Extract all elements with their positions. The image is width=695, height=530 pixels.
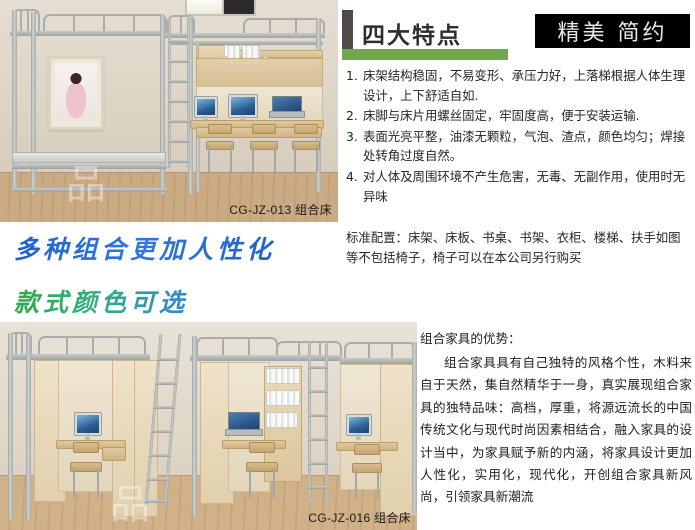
wall-poster (48, 56, 104, 130)
standard-configuration-text: 标准配置：床架、床板、书桌、书架、衣柜、楼梯、扶手如图等不包括椅子，椅子可以在本… (346, 228, 692, 268)
quality-badge: 精美 简约 (535, 14, 690, 48)
product-image-bottom: 品 CG-JZ-016 组合床 (0, 322, 417, 530)
features-header: 四大特点 (342, 10, 462, 50)
post-b4 (412, 342, 417, 514)
post-b2 (26, 335, 31, 521)
feature-item-4: 4. 对人体及周围环境不产生危害，无毒、无副作用，使用时无异味 (346, 167, 690, 206)
feature-text-3: 表面光亮平整，油漆无颗粒，气泡、渣点，颜色均匀；焊接处转角过度自然。 (363, 127, 690, 166)
feature-number-1: 1. (346, 66, 363, 105)
chair-3 (292, 124, 320, 172)
laptop-1 (272, 96, 302, 118)
overhead-shelf-board-2 (196, 58, 323, 88)
header-tick-mark (342, 10, 353, 50)
chair-b3 (352, 444, 382, 498)
header-green-bar (342, 49, 508, 60)
chair-b1 (70, 442, 102, 498)
feature-number-4: 4. (346, 167, 363, 206)
features-list: 1. 床架结构稳固，不易变形、承压力好，上落梯根据人体生理设计，上下舒适自如. … (346, 66, 690, 207)
post-b3 (192, 336, 197, 516)
bottom-beam (12, 188, 167, 192)
books-b2 (266, 390, 300, 406)
feature-item-3: 3. 表面光亮平整，油漆无颗粒，气泡、渣点，颜色均匀；焊接处转角过度自然。 (346, 127, 690, 166)
slogan-line-1: 多种组合更加人性化 (14, 230, 275, 266)
product-page: 品 CG-JZ-013 组合床 四大特点 精美 简约 1. 床架结构稳固，不易变… (0, 0, 695, 530)
chair-2 (250, 124, 278, 172)
bed-guard-rail-b3 (196, 337, 278, 357)
monitor-1 (194, 96, 218, 118)
monitor-2 (228, 94, 258, 118)
books-b3 (266, 412, 298, 428)
advantages-panel: 组合家具的优势： 组合家具具有自己独特的风格个性，木料来自于天然，集自然精华于一… (420, 322, 695, 530)
window-2 (222, 0, 256, 16)
monitor-b1 (74, 412, 102, 436)
chair-b2 (246, 442, 278, 498)
laptop-b1 (228, 412, 260, 436)
feature-number-3: 3. (346, 127, 363, 166)
feature-text-2: 床脚与床片用螺丝固定，牢固度高，便于安装运输. (363, 106, 690, 126)
feature-text-1: 床架结构稳固，不易变形、承压力好，上落梯根据人体生理设计，上下舒适自如. (363, 66, 690, 105)
features-heading: 四大特点 (362, 24, 462, 50)
slogan-line-2: 款式颜色可选 (14, 283, 188, 319)
quality-badge-label: 精美 简约 (558, 15, 668, 47)
post-b1 (8, 333, 13, 519)
bunk-bed-scene-bottom: 品 CG-JZ-016 组合床 (0, 322, 417, 530)
feature-item-2: 2. 床脚与床片用螺丝固定，牢固度高，便于安装运输. (346, 106, 690, 126)
ladder-b2 (308, 342, 328, 502)
advantages-body: 组合家具具有自己独特的风格个性，木料来自于天然，集自然精华于一身，真实展现组合家… (420, 352, 692, 509)
bunk-bed-scene-top: 品 CG-JZ-013 组合床 (0, 0, 338, 222)
product-image-top: 品 CG-JZ-013 组合床 (0, 0, 338, 222)
monitor-b2 (346, 414, 372, 436)
feature-text-4: 对人体及周围环境不产生危害，无毒、无副作用，使用时无异味 (363, 167, 690, 206)
poster-photo (55, 63, 97, 123)
desk-drawer-b1 (102, 447, 126, 461)
features-panel: 四大特点 精美 简约 1. 床架结构稳固，不易变形、承压力好，上落梯根据人体生理… (340, 0, 695, 300)
image-caption-bottom: CG-JZ-016 组合床 (308, 509, 411, 526)
feature-number-2: 2. (346, 106, 363, 126)
lower-bed-board (12, 152, 166, 163)
feature-item-1: 1. 床架结构稳固，不易变形、承压力好，上落梯根据人体生理设计，上下舒适自如. (346, 66, 690, 105)
ladder-top (168, 18, 190, 168)
lower-bed-beam (12, 164, 167, 169)
bed-guard-rail-b2 (38, 336, 146, 356)
books-b1 (266, 368, 300, 384)
chair-1 (206, 124, 234, 172)
image-caption-top: CG-JZ-013 组合床 (229, 201, 332, 218)
monitor-stand-b2 (356, 434, 361, 440)
advantages-title: 组合家具的优势： (420, 328, 521, 347)
